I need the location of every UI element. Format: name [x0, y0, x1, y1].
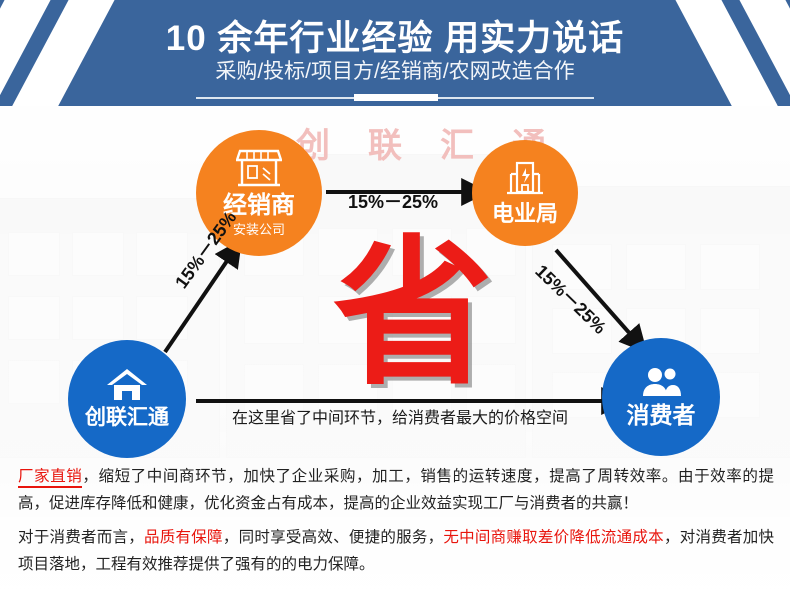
- paragraph-one: 厂家直销，缩短了中间商环节，加快了企业采购，加工，销售的运转速度，提高了周转效率…: [18, 463, 774, 517]
- paragraph-two-text-1: 对于消费者而言，: [18, 529, 144, 546]
- shop-icon: [236, 148, 282, 193]
- center-save-character: 省: [333, 240, 493, 387]
- paragraph-two-text-2: ，同时享受高效、便捷的服务，: [223, 529, 444, 546]
- node-power-bureau[interactable]: 电业局: [472, 140, 578, 246]
- node-power-bureau-label: 电业局: [492, 202, 558, 225]
- paragraph-two-highlight-2: 无中间商赚取差价降低流通成本: [443, 529, 664, 546]
- promo-banner: 10 余年行业经验 用实力说话 采购/投标/项目方/经销商/农网改造合作 创联汇…: [0, 0, 790, 600]
- power-plant-icon: [505, 161, 545, 202]
- paragraph-one-highlight: 厂家直销: [18, 468, 82, 488]
- users-icon: [639, 366, 683, 403]
- node-factory[interactable]: 创联汇通: [68, 340, 186, 458]
- arrow-label-dealer-power: 15%－25%: [348, 188, 438, 214]
- paragraph-two-highlight-1: 品质有保障: [144, 529, 223, 546]
- flow-caption: 在这里省了中间环节，给消费者最大的价格空间: [200, 404, 600, 428]
- node-consumer[interactable]: 消费者: [602, 338, 720, 456]
- paragraph-two: 对于消费者而言，品质有保障，同时享受高效、便捷的服务，无中间商赚取差价降低流通成…: [18, 524, 774, 578]
- node-consumer-label: 消费者: [627, 403, 696, 427]
- home-icon: [105, 368, 149, 407]
- node-factory-label: 创联汇通: [85, 407, 169, 429]
- paragraph-one-body: ，缩短了中间商环节，加快了企业采购，加工，销售的运转速度，提高了周转效率。由于效…: [18, 468, 774, 512]
